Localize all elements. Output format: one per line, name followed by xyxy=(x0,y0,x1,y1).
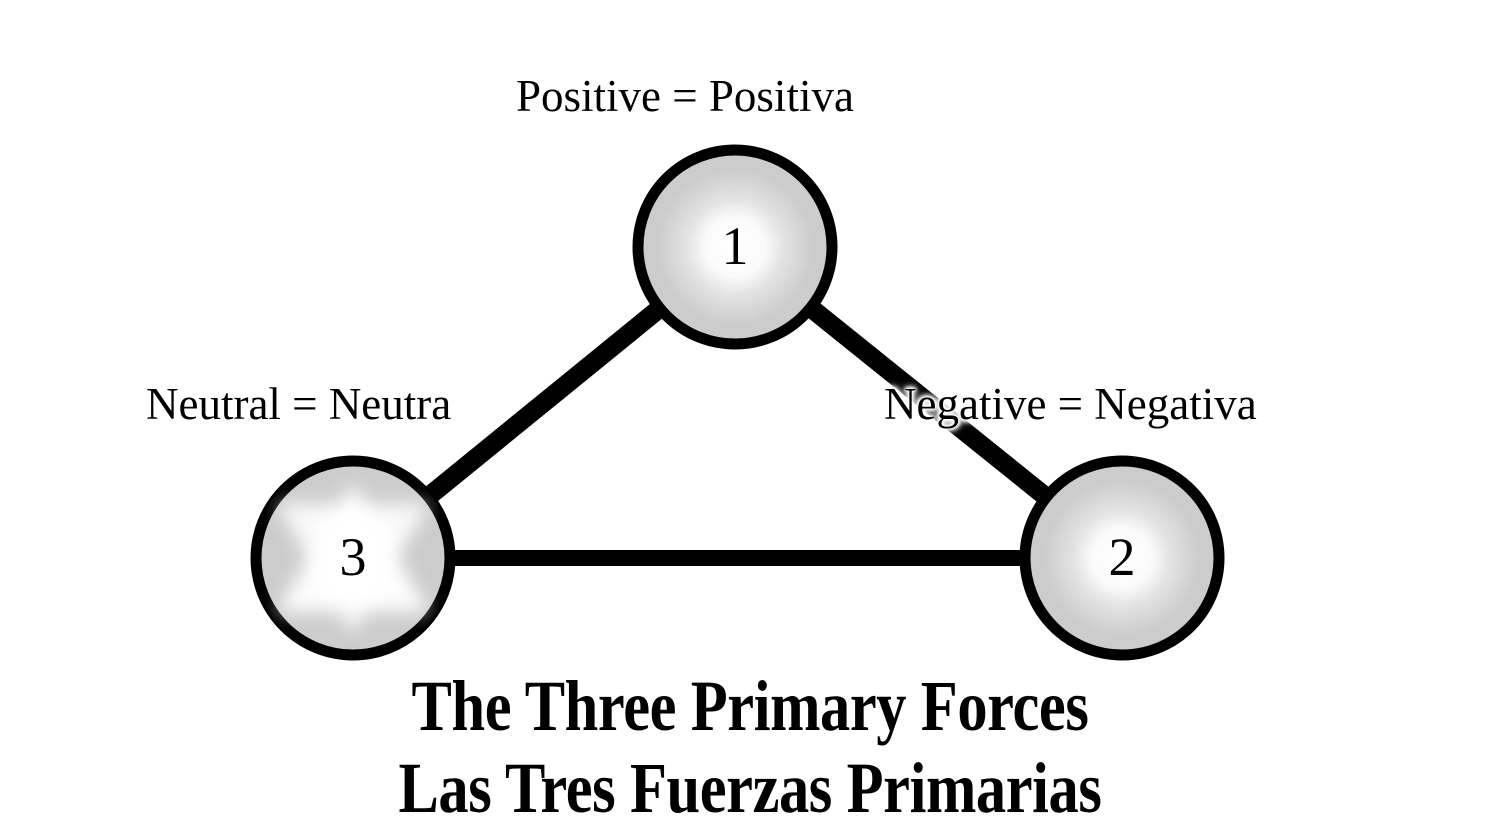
diagram-title: The Three Primary Forces Las Tres Fuerza… xyxy=(120,665,1380,829)
node-2-number: 2 xyxy=(1082,530,1162,584)
node-1-number: 1 xyxy=(695,219,775,273)
title-line-spanish: Las Tres Fuerzas Primarias xyxy=(120,747,1380,829)
node-3-label: Neutral = Neutra xyxy=(146,382,451,427)
node-2-label: Negative = Negativa xyxy=(884,382,1257,427)
diagram-canvas: 1 2 3 Positive = Positiva Negative = Neg… xyxy=(0,0,1500,833)
node-3-number: 3 xyxy=(313,530,393,584)
title-line-english: The Three Primary Forces xyxy=(120,665,1380,747)
node-1-label: Positive = Positiva xyxy=(516,74,854,119)
